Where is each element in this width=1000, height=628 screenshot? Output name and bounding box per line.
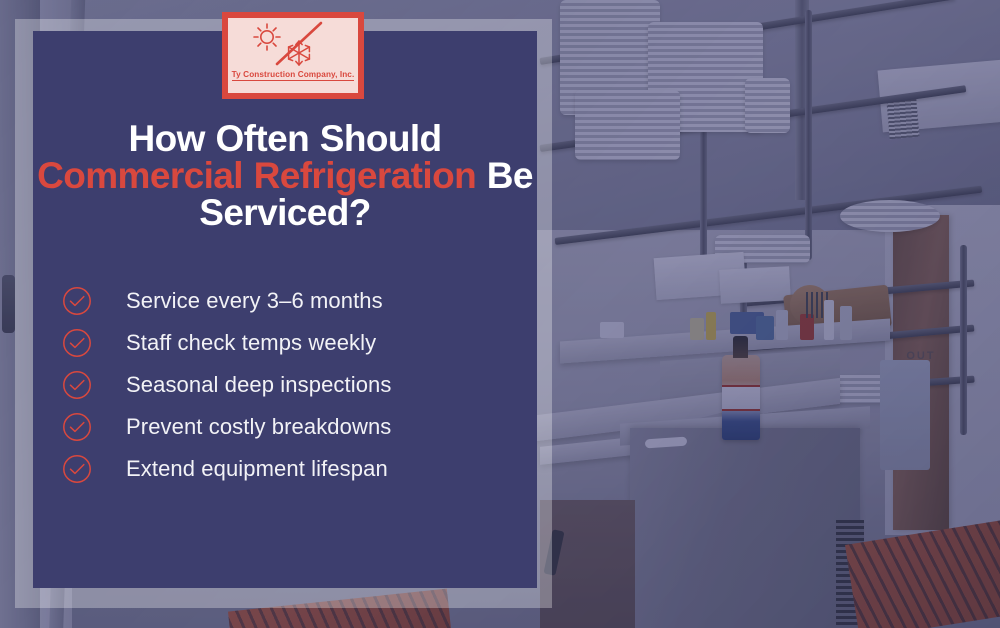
list-item: Extend equipment lifespan [60, 448, 520, 490]
page-title: How Often Should Commercial Refrigeratio… [33, 120, 537, 231]
list-item: Staff check temps weekly [60, 322, 520, 364]
headline-line-1: How Often Should [33, 120, 537, 157]
check-circle-icon [60, 452, 94, 486]
list-item: Seasonal deep inspections [60, 364, 520, 406]
headline-line-2: Commercial Refrigeration Be [33, 157, 537, 194]
snowflake-icon [289, 41, 310, 65]
check-circle-icon [60, 284, 94, 318]
list-item-label: Prevent costly breakdowns [126, 414, 391, 440]
sun-snowflake-slash-icon [233, 20, 353, 70]
check-circle-icon [60, 410, 94, 444]
logo-mark [228, 18, 358, 70]
list-item-label: Service every 3–6 months [126, 288, 383, 314]
headline-line-3: Serviced? [33, 194, 537, 231]
company-logo[interactable]: Ty Construction Company, Inc. [222, 12, 364, 99]
list-item-label: Seasonal deep inspections [126, 372, 391, 398]
list-item: Service every 3–6 months [60, 280, 520, 322]
list-item-label: Extend equipment lifespan [126, 456, 388, 482]
list-item: Prevent costly breakdowns [60, 406, 520, 448]
logo-company-name: Ty Construction Company, Inc. [232, 70, 355, 81]
check-circle-icon [60, 368, 94, 402]
infographic-card: OUT [0, 0, 1000, 628]
headline-accent: Commercial Refrigeration [37, 155, 476, 196]
check-circle-icon [60, 326, 94, 360]
list-item-label: Staff check temps weekly [126, 330, 376, 356]
headline-line-2-rest: Be [476, 155, 533, 196]
benefits-list: Service every 3–6 months Staff check tem… [60, 280, 520, 490]
sun-icon [254, 24, 280, 50]
